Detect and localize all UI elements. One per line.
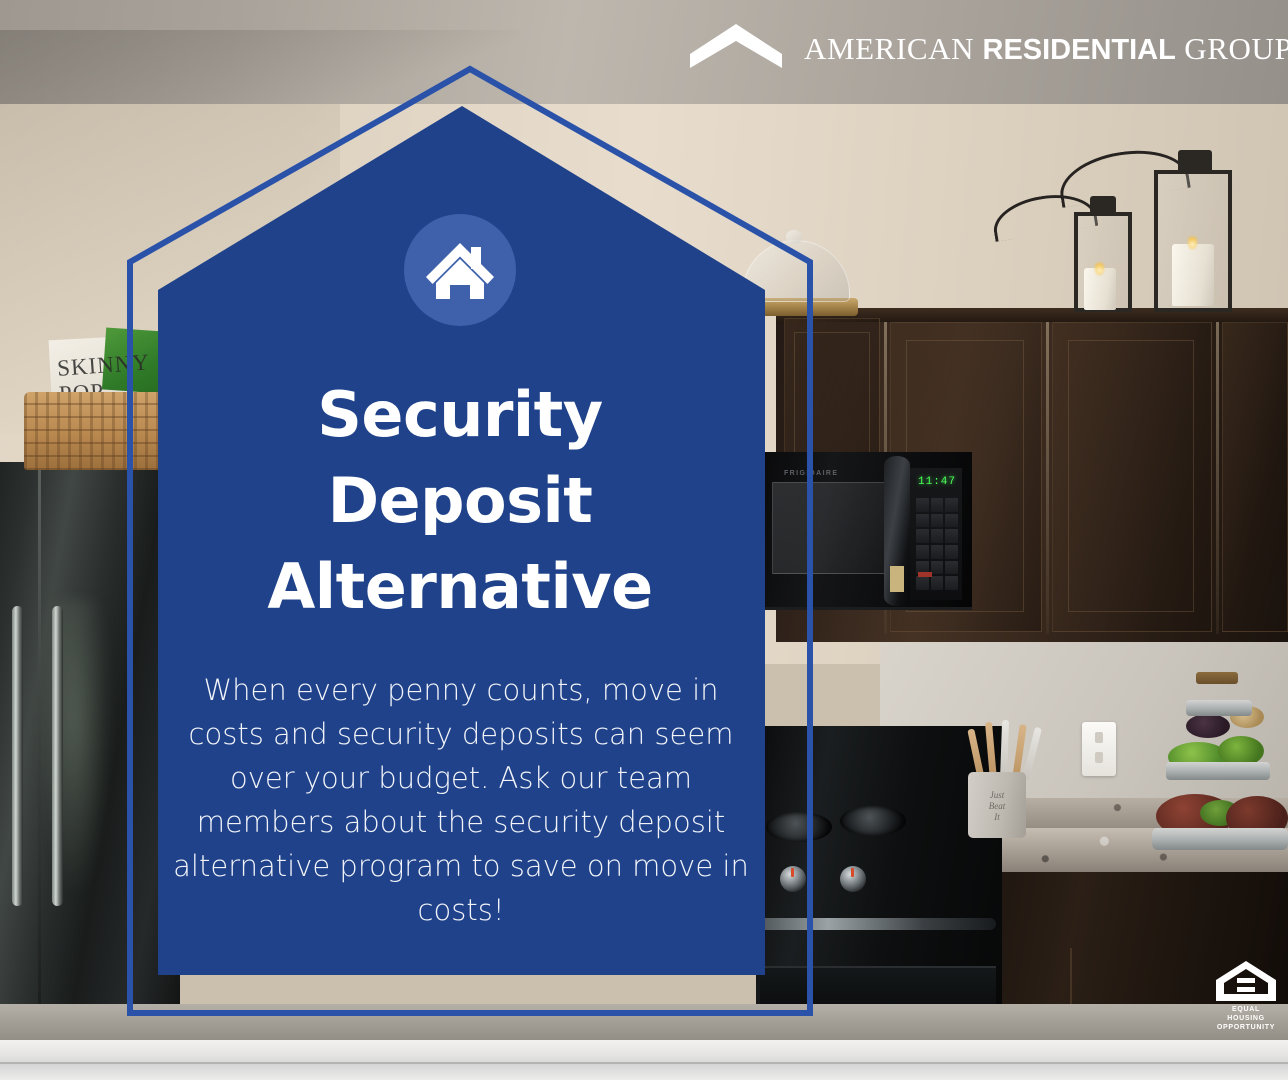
brand-logo[interactable]: AMERICAN RESIDENTIAL GROUP: [690, 24, 1288, 73]
brand-word-american: AMERICAN: [804, 31, 974, 66]
brand-word-residential: RESIDENTIAL: [983, 34, 1176, 66]
heading-line-1: Security: [170, 372, 750, 458]
equal-housing-opportunity-logo: EQUAL HOUSING OPPORTUNITY: [1212, 960, 1280, 1032]
page-title: Security Deposit Alternative: [170, 372, 750, 630]
heading-line-2: Deposit: [170, 458, 750, 544]
chevron-roof-icon: [690, 24, 782, 73]
home-icon: [424, 239, 496, 301]
brand-word-group: GROUP: [1184, 31, 1288, 66]
poster-canvas: SKINNY POP FRIGIDAIRE: [0, 0, 1288, 1080]
equal-housing-opportunity-icon: [1215, 960, 1277, 1002]
eho-line-2: OPPORTUNITY: [1217, 1024, 1275, 1031]
heading-line-3: Alternative: [170, 544, 750, 630]
equal-housing-opportunity-text: EQUAL HOUSING OPPORTUNITY: [1212, 1005, 1280, 1032]
brand-wordmark: AMERICAN RESIDENTIAL GROUP: [804, 31, 1288, 67]
eho-line-1: EQUAL HOUSING: [1227, 1006, 1265, 1022]
home-icon-badge: [404, 214, 516, 326]
body-paragraph: When every penny counts, move in costs a…: [172, 668, 750, 932]
